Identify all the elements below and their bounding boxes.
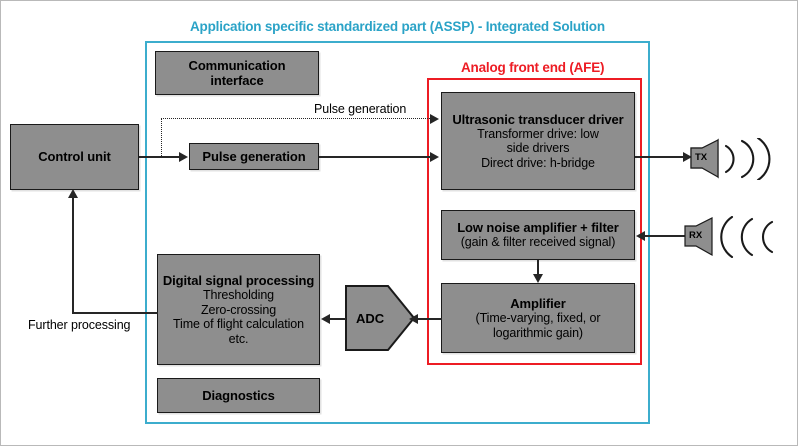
block-amplifier-line-0: Amplifier [510, 296, 565, 311]
transducer-rx[interactable]: RX [684, 216, 796, 258]
block-diagnostics[interactable]: Diagnostics [157, 378, 320, 413]
connector-dsp-further-processing-horizontal [72, 312, 158, 314]
block-communication-interface[interactable]: Communication interface [155, 51, 319, 95]
block-pulse-generation-line-0: Pulse generation [202, 149, 305, 164]
arrowhead-dotted-pulsegen [430, 114, 439, 124]
block-pulse-generation[interactable]: Pulse generation [189, 143, 319, 170]
block-control-unit-line-0: Control unit [38, 149, 110, 164]
block-digital-signal-processing-line-4: etc. [229, 332, 249, 347]
block-ultrasonic-transducer-driver-line-0: Ultrasonic transducer driver [452, 112, 623, 127]
block-digital-signal-processing-line-3: Time of flight calculation [173, 317, 304, 332]
arrowhead-control-to-pulsegen [179, 152, 188, 162]
block-low-noise-amplifier-line-0: Low noise amplifier + filter [457, 220, 619, 235]
arrowhead-adc-to-dsp [321, 314, 330, 324]
block-low-noise-amplifier[interactable]: Low noise amplifier + filter (gain & fil… [441, 210, 635, 260]
block-low-noise-amplifier-line-1: (gain & filter received signal) [461, 235, 616, 250]
connector-driver-to-tx [635, 156, 685, 158]
arrowhead-amplifier-to-adc [409, 314, 418, 324]
arrowhead-lna-to-amplifier [533, 274, 543, 283]
diagram-canvas: Application specific standardized part (… [0, 0, 800, 448]
block-communication-interface-line-1: interface [210, 73, 263, 88]
sound-waves-icon [721, 217, 772, 257]
block-amplifier-line-1: (Time-varying, fixed, or [476, 311, 601, 326]
block-communication-interface-line-0: Communication [189, 58, 286, 73]
connector-amplifier-to-adc [418, 318, 442, 320]
block-adc[interactable]: ADC [344, 284, 416, 352]
label-further-processing: Further processing [28, 318, 130, 332]
block-digital-signal-processing-line-0: Digital signal processing [163, 273, 314, 288]
connector-lna-to-amplifier [537, 260, 539, 275]
transducer-tx[interactable]: TX [690, 138, 795, 180]
label-pulse-generation-signal: Pulse generation [314, 102, 406, 116]
connector-pulsegen-to-driver [319, 156, 432, 158]
block-control-unit[interactable]: Control unit [10, 124, 139, 190]
block-diagnostics-line-0: Diagnostics [202, 388, 275, 403]
block-digital-signal-processing[interactable]: Digital signal processing Thresholding Z… [157, 254, 320, 365]
connector-adc-to-dsp [330, 318, 346, 320]
block-ultrasonic-transducer-driver-line-2: side drivers [507, 141, 570, 156]
block-amplifier-line-2: logarithmic gain) [493, 326, 583, 341]
block-amplifier[interactable]: Amplifier (Time-varying, fixed, or logar… [441, 283, 635, 353]
connector-control-to-pulsegen [139, 156, 180, 158]
arrowhead-further-processing [68, 189, 78, 198]
connector-dotted-horizontal-pulsegen [161, 118, 432, 119]
sound-waves-icon [726, 138, 769, 180]
speaker-icon [684, 216, 796, 258]
block-ultrasonic-transducer-driver-line-1: Transformer drive: low [477, 127, 599, 142]
connector-rx-to-lna [645, 235, 685, 237]
speaker-icon [690, 138, 795, 180]
block-ultrasonic-transducer-driver[interactable]: Ultrasonic transducer driver Transformer… [441, 92, 635, 190]
arrowhead-pulsegen-to-driver [430, 152, 439, 162]
block-ultrasonic-transducer-driver-line-3: Direct drive: h-bridge [481, 156, 595, 171]
connector-dotted-vertical-pulsegen [161, 118, 162, 156]
arrowhead-rx-to-lna [636, 231, 645, 241]
block-digital-signal-processing-line-2: Zero-crossing [201, 303, 276, 318]
block-digital-signal-processing-line-1: Thresholding [203, 288, 274, 303]
adc-pentagon-shape [344, 284, 416, 352]
assp-group-title: Application specific standardized part (… [190, 19, 605, 34]
connector-dsp-further-processing-vertical [72, 198, 74, 313]
afe-group-title: Analog front end (AFE) [461, 60, 604, 75]
